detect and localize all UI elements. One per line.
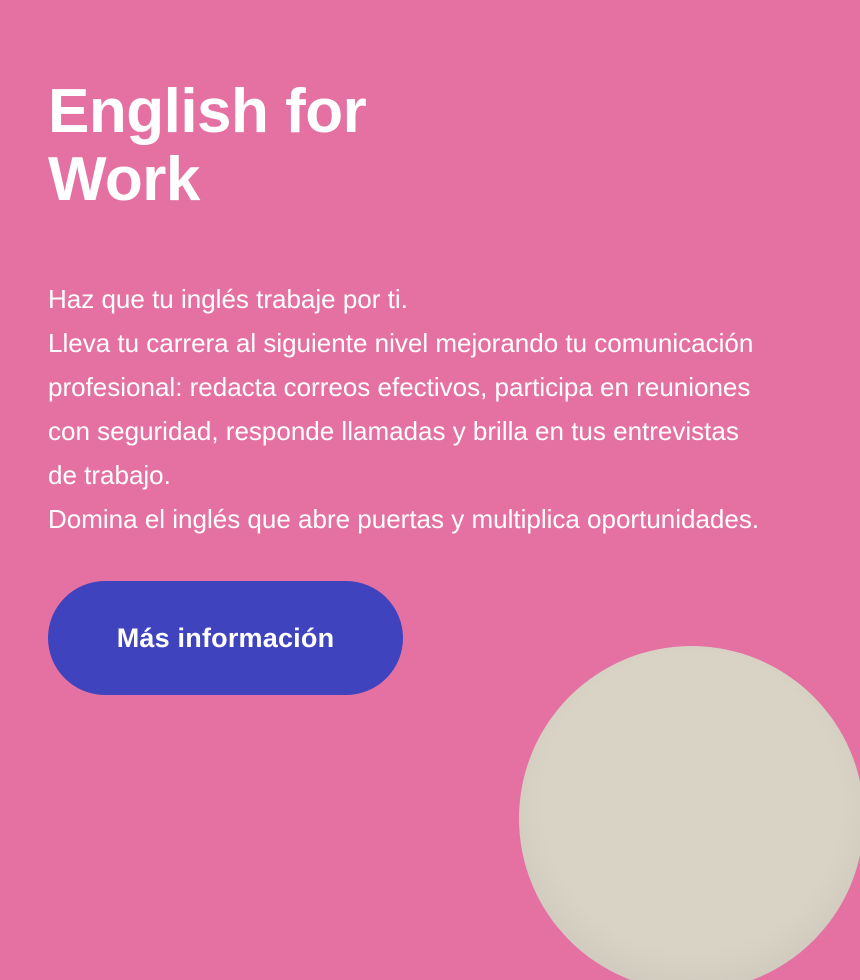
more-information-button[interactable]: Más información: [48, 581, 403, 695]
cta-container: Más información: [48, 541, 808, 695]
banner-content: English for Work Haz que tu inglés traba…: [48, 0, 808, 695]
hero-photo: [519, 646, 860, 980]
promo-banner: English for Work Haz que tu inglés traba…: [0, 0, 860, 980]
banner-description: Haz que tu inglés trabaje por ti. Lleva …: [48, 214, 766, 541]
hero-photo-vignette: [519, 646, 860, 980]
page-title: English for Work: [48, 0, 808, 214]
